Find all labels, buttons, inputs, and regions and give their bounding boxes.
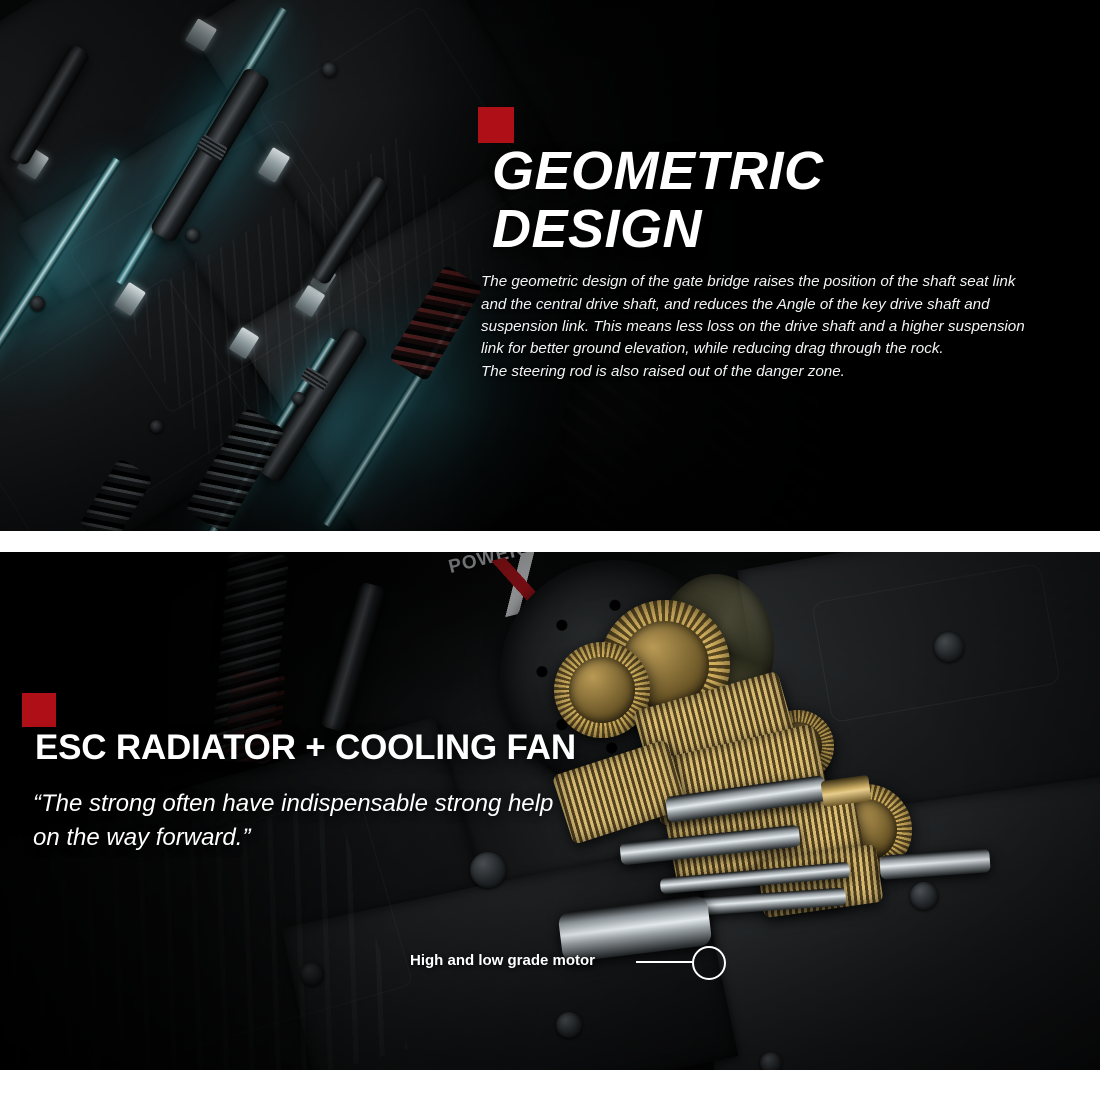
bolt — [910, 882, 938, 910]
callout-leader-line — [636, 961, 694, 963]
brand-decal: POWER — [446, 552, 526, 579]
chassis-photo — [0, 0, 1100, 531]
page-title: GEOMETRIC DESIGN — [492, 142, 824, 258]
product-feature-page: GEOMETRIC DESIGN The geometric design of… — [0, 0, 1100, 1100]
callout-label: High and low grade motor — [410, 950, 595, 972]
geometric-design-description: The geometric design of the gate bridge … — [481, 271, 1085, 383]
section-title-esc-radiator: ESC RADIATOR + COOLING FAN — [35, 729, 576, 767]
bolt — [934, 632, 964, 662]
panel-divider — [0, 531, 1100, 552]
bolt — [556, 1012, 582, 1038]
bolt — [292, 392, 305, 405]
footer-band — [0, 1070, 1100, 1100]
callout-target-circle — [692, 946, 726, 980]
accent-square-bottom — [22, 693, 56, 727]
shock-absorber — [320, 581, 386, 732]
bolt — [760, 1052, 782, 1070]
section-quote: “The strong often have indispensable str… — [33, 787, 593, 855]
bolt — [30, 296, 45, 311]
bolt — [186, 228, 200, 242]
panel-geometric-design: GEOMETRIC DESIGN The geometric design of… — [0, 0, 1100, 531]
bolt — [470, 852, 506, 888]
accent-square-top — [478, 107, 514, 143]
bolt — [322, 62, 337, 77]
bolt — [300, 962, 324, 986]
bolt — [150, 420, 163, 433]
